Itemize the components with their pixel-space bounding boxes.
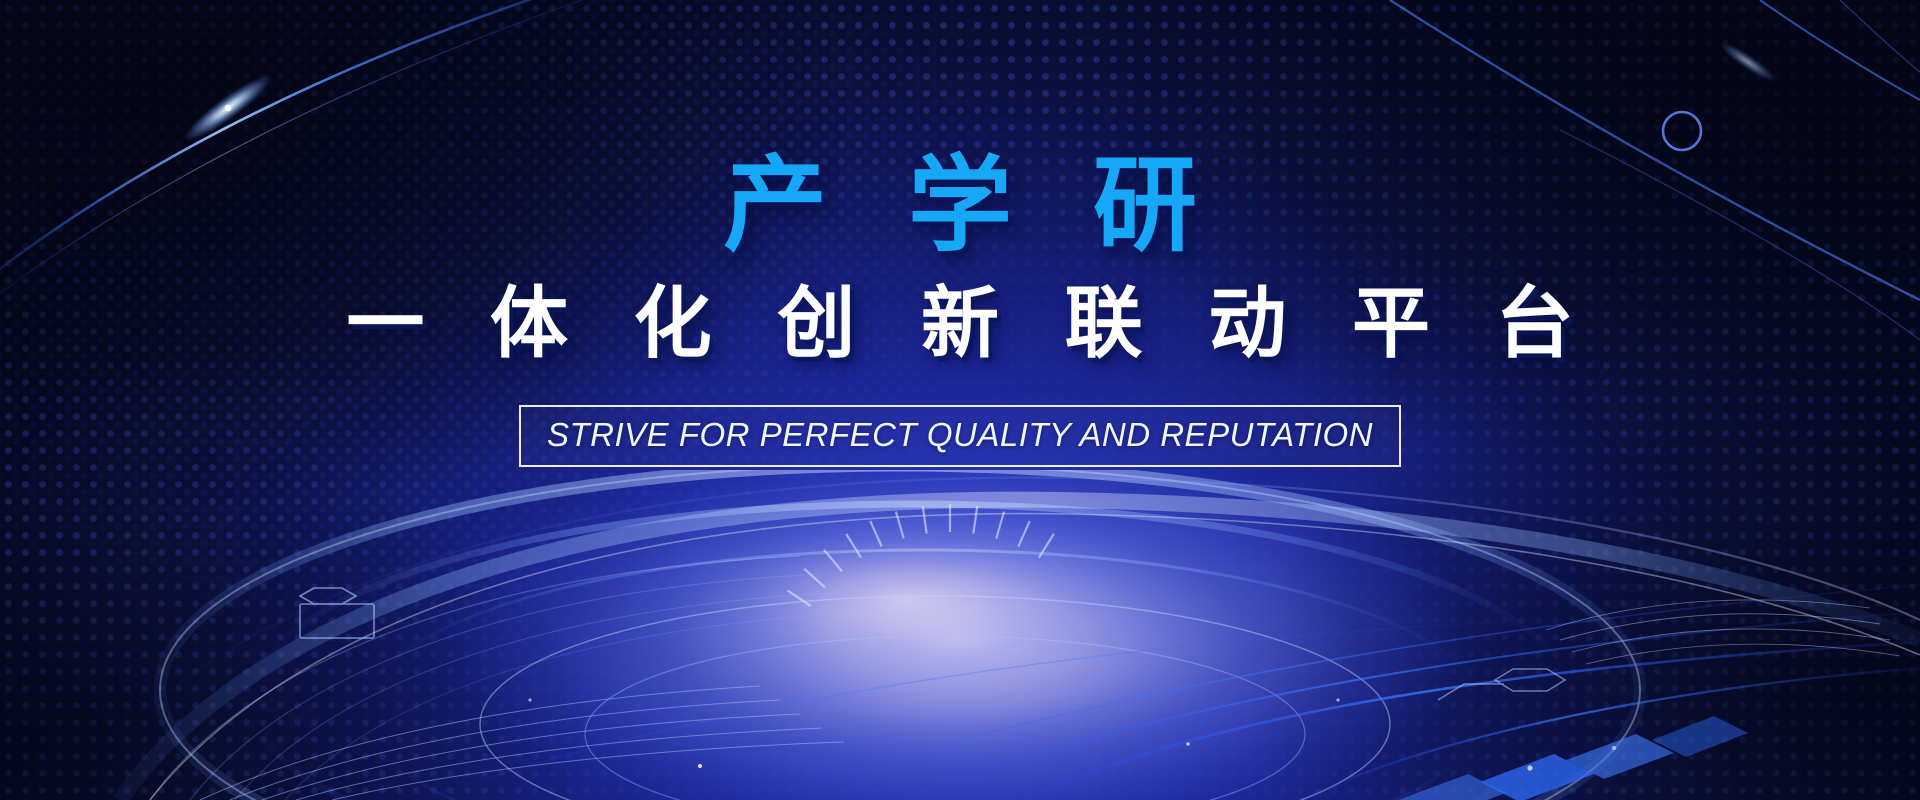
tech-globe-artwork [0, 0, 1920, 800]
banner-root: 产 学 研 一 体 化 创 新 联 动 平 台 STRIVE FOR PERFE… [0, 0, 1920, 800]
